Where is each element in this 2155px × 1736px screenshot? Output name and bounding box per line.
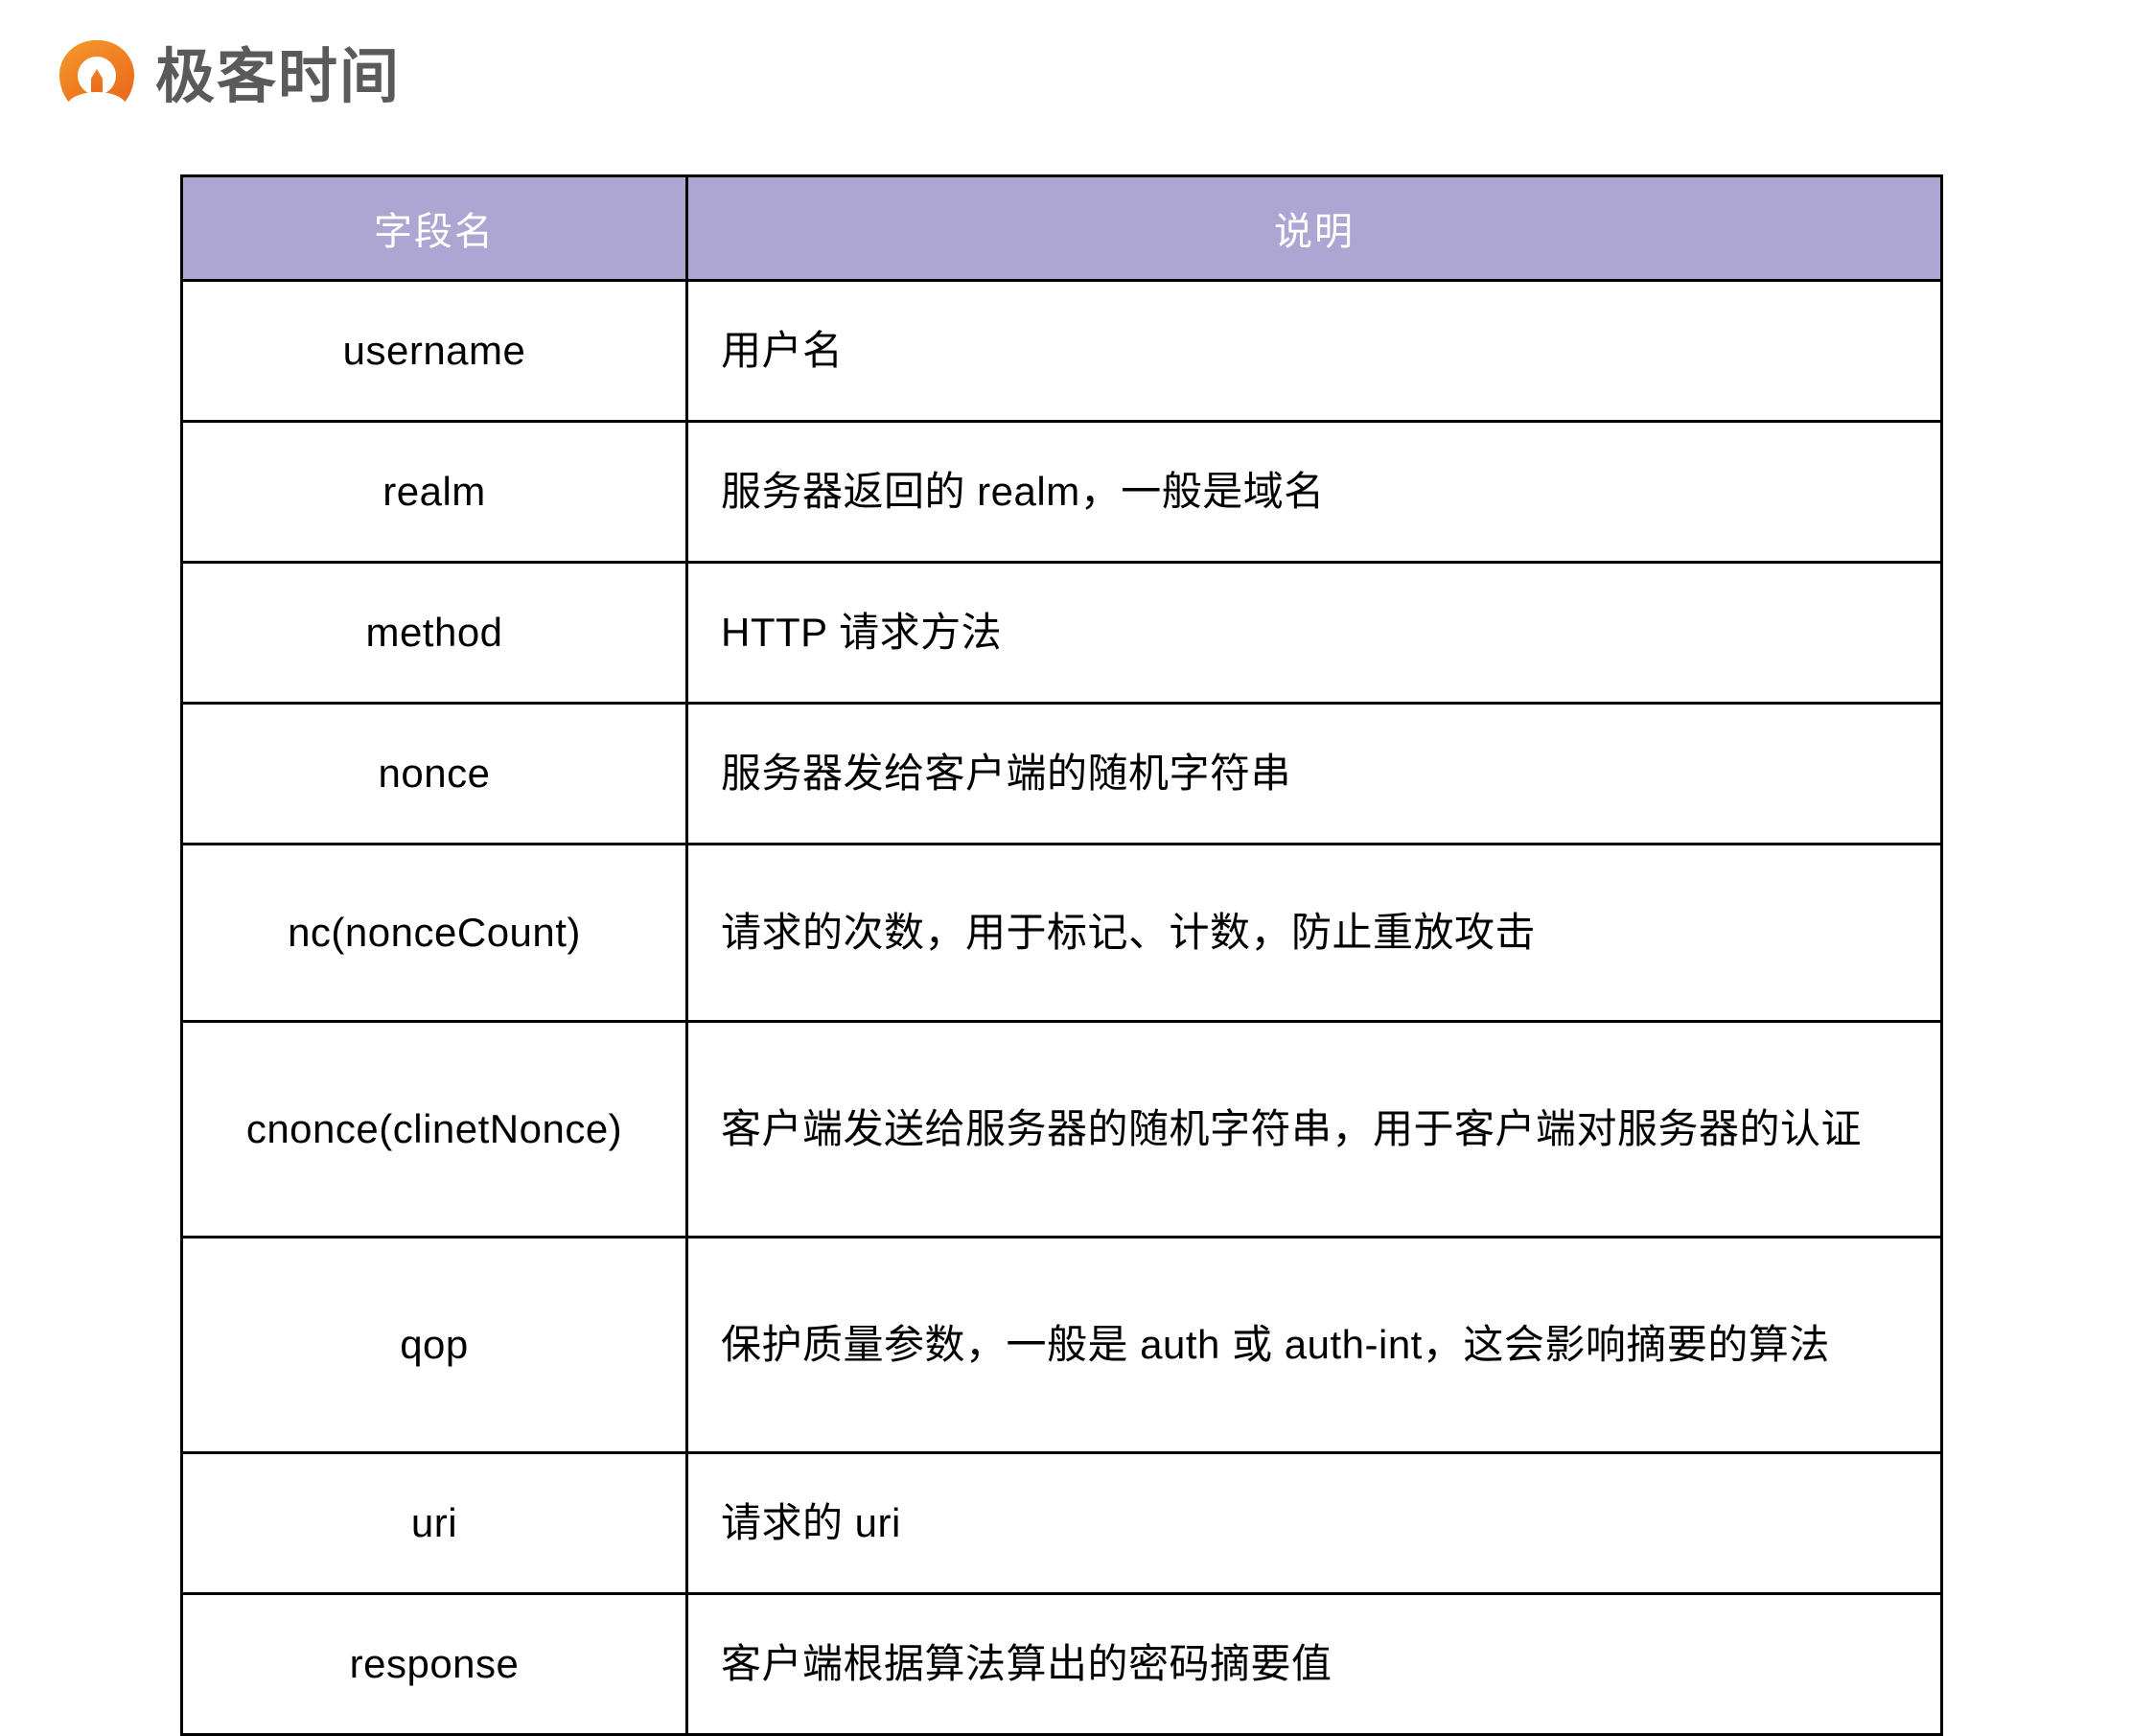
cell-field-description: HTTP 请求方法 [687,563,1942,704]
cell-field-name: username [182,281,687,422]
table-row: cnonce(clinetNonce) 客户端发送给服务器的随机字符串，用于客户… [182,1022,1942,1238]
cell-field-name: qop [182,1238,687,1453]
field-spec-table-container: 字段名 说明 username 用户名 realm 服务器返回的 realm，一… [180,174,1940,1736]
cell-field-description: 保护质量参数，一般是 auth 或 auth-int，这会影响摘要的算法 [687,1238,1942,1453]
cell-field-name: nc(nonceCount) [182,845,687,1022]
cell-field-description: 客户端根据算法算出的密码摘要值 [687,1594,1942,1735]
cell-field-name: realm [182,422,687,563]
cell-field-description: 请求的 uri [687,1453,1942,1594]
cell-field-description: 服务器发给客户端的随机字符串 [687,704,1942,845]
cell-field-description: 服务器返回的 realm，一般是域名 [687,422,1942,563]
table-row: response 客户端根据算法算出的密码摘要值 [182,1594,1942,1735]
cell-field-description: 请求的次数，用于标记、计数，防止重放攻击 [687,845,1942,1022]
table-row: nonce 服务器发给客户端的随机字符串 [182,704,1942,845]
cell-field-name: cnonce(clinetNonce) [182,1022,687,1238]
table-row: method HTTP 请求方法 [182,563,1942,704]
table-header: 字段名 说明 [182,176,1942,281]
table-row: qop 保护质量参数，一般是 auth 或 auth-int，这会影响摘要的算法 [182,1238,1942,1453]
cell-field-name: nonce [182,704,687,845]
column-header-description: 说明 [687,176,1942,281]
geektime-pin-icon [59,40,134,115]
table-row: uri 请求的 uri [182,1453,1942,1594]
logo-bottom-cut [67,92,127,121]
table-row: nc(nonceCount) 请求的次数，用于标记、计数，防止重放攻击 [182,845,1942,1022]
field-spec-table: 字段名 说明 username 用户名 realm 服务器返回的 realm，一… [180,174,1943,1736]
table-body: username 用户名 realm 服务器返回的 realm，一般是域名 me… [182,281,1942,1735]
column-header-field: 字段名 [182,176,687,281]
table-row: username 用户名 [182,281,1942,422]
cell-field-description: 用户名 [687,281,1942,422]
cell-field-description: 客户端发送给服务器的随机字符串，用于客户端对服务器的认证 [687,1022,1942,1238]
brand-header: 极客时间 [59,40,401,115]
table-header-row: 字段名 说明 [182,176,1942,281]
table-row: realm 服务器返回的 realm，一般是域名 [182,422,1942,563]
cell-field-name: uri [182,1453,687,1594]
cell-field-name: response [182,1594,687,1735]
cell-field-name: method [182,563,687,704]
brand-name: 极客时间 [155,48,401,107]
